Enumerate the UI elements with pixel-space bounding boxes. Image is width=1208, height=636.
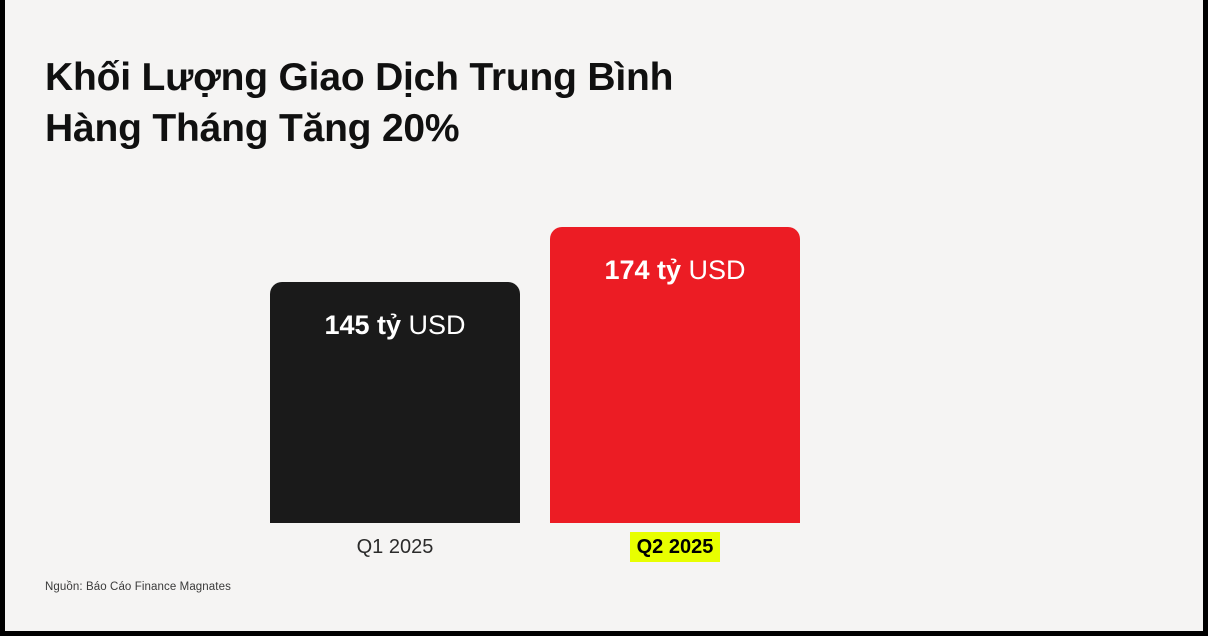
slide-canvas: Khối Lượng Giao Dịch Trung Bình Hàng Thá… [0,0,1208,636]
source-note: Nguồn: Báo Cáo Finance Magnates [45,581,231,593]
bar-q2-2025[interactable]: 174 tỷ USD Q2 2025 [550,227,800,523]
category-label-q2-text: Q2 2025 [630,532,721,562]
bar-value-label-q2: 174 tỷ USD [550,257,800,284]
bar-group-q1: 145 tỷ USD Q1 2025 [270,282,520,523]
category-label-q2: Q2 2025 [550,532,800,562]
bar-group-q2: 174 tỷ USD Q2 2025 [550,227,800,523]
category-label-q1: Q1 2025 [270,532,520,562]
category-label-q1-text: Q1 2025 [350,532,441,562]
bar-chart: 145 tỷ USD Q1 2025 174 tỷ USD Q2 2025 [5,0,1208,636]
bar-value-amount-q1: 145 tỷ [324,310,401,340]
bar-value-unit-q2: USD [689,255,746,285]
bar-value-unit-q1: USD [409,310,466,340]
bar-value-amount-q2: 174 tỷ [604,255,681,285]
bar-q1-2025[interactable]: 145 tỷ USD Q1 2025 [270,282,520,523]
bar-value-label-q1: 145 tỷ USD [270,312,520,339]
